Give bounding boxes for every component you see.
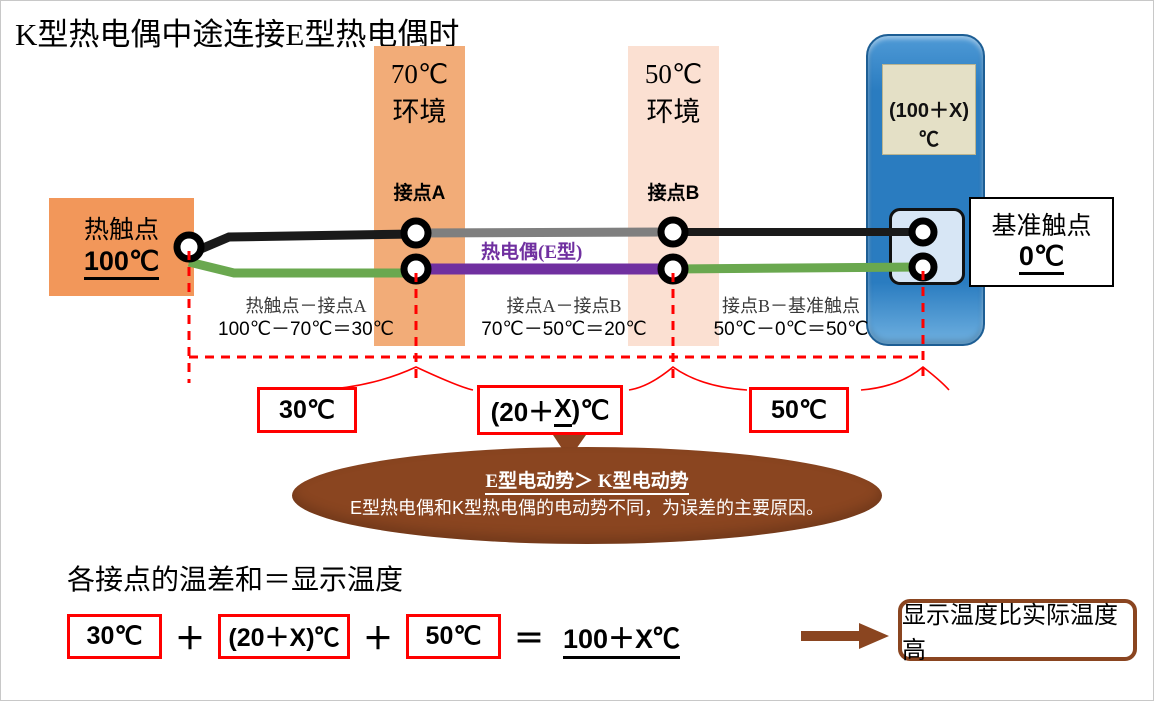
reference-junction-value: 0℃ [971,241,1112,272]
band-50-env-label: 环境 [628,90,719,129]
band-70-temp: 70℃ [374,59,465,91]
equation-equals-sign: ＝ [501,614,557,658]
equation-total: 100＋X℃ [557,617,686,656]
diagram-canvas: K型热电偶中途连接E型热电偶时 70℃ 环境 接点A 50℃ 环境 接点B 热触… [0,0,1154,701]
segment-3-annotation: 接点B－基准触点 50℃－0℃＝50℃ [691,295,891,341]
reference-junction-label: 基准触点 [971,206,1112,242]
emf-callout-ellipse: E型电动势＞ K型电动势 E型热电偶和K型热电偶的电动势不同，为误差的主要原因。 [292,447,882,544]
segment-3-result-box: 50℃ [749,387,849,433]
meter-screen: (100＋X)℃ [882,64,976,155]
segment-3-name: 接点B－基准触点 [691,295,891,318]
equation-term-1: 30℃ [67,614,162,659]
contact-a-label: 接点A [374,178,465,205]
equation-operator-1: ＋ [162,614,218,658]
segment-1-annotation: 热触点－接点A 100℃－70℃＝30℃ [201,295,411,341]
band-50-temp: 50℃ [628,59,719,91]
segment-1-name: 热触点－接点A [201,295,411,318]
callout-line-1: E型电动势＞ K型电动势 [292,466,882,493]
meter-display-value: (100＋X)℃ [883,94,975,152]
meter-terminal-block [889,208,965,285]
callout-line-2: E型热电偶和K型热电偶的电动势不同，为误差的主要原因。 [292,494,882,520]
band-70-env-label: 环境 [374,90,465,129]
segment-2-result-box: (20＋X)℃ [477,385,623,435]
conclusion-box: 显示温度比实际温度高 [898,599,1137,661]
equation-term-2: (20＋X)℃ [218,614,350,659]
reference-junction-box: 基准触点 0℃ [969,197,1114,287]
hot-junction-label: 热触点 [49,210,194,246]
segment-1-calc: 100℃－70℃＝30℃ [201,318,411,342]
segment-2-calc: 70℃－50℃＝20℃ [459,318,669,342]
thermocouple-wire-label: 热电偶(E型) [481,237,582,264]
segment-2-name: 接点A－接点B [459,295,669,318]
hot-junction-value: 100℃ [49,246,194,277]
segment-2-result-suffix: )℃ [572,395,610,426]
equation-operator-2: ＋ [350,614,406,658]
segment-2-result-variable: X [554,393,571,427]
hot-junction-box: 热触点 100℃ [49,198,194,296]
segment-2-result-prefix: (20＋ [491,392,555,429]
equation-term-3: 50℃ [406,614,501,659]
summary-equation: 30℃ ＋ (20＋X)℃ ＋ 50℃ ＝ 100＋X℃ [67,611,686,661]
segment-3-calc: 50℃－0℃＝50℃ [691,318,891,342]
conclusion-arrow-icon [801,623,889,649]
contact-b-label: 接点B [628,178,719,205]
summary-heading: 各接点的温差和＝显示温度 [67,558,403,598]
segment-2-annotation: 接点A－接点B 70℃－50℃＝20℃ [459,295,669,341]
segment-1-result-box: 30℃ [257,387,357,433]
